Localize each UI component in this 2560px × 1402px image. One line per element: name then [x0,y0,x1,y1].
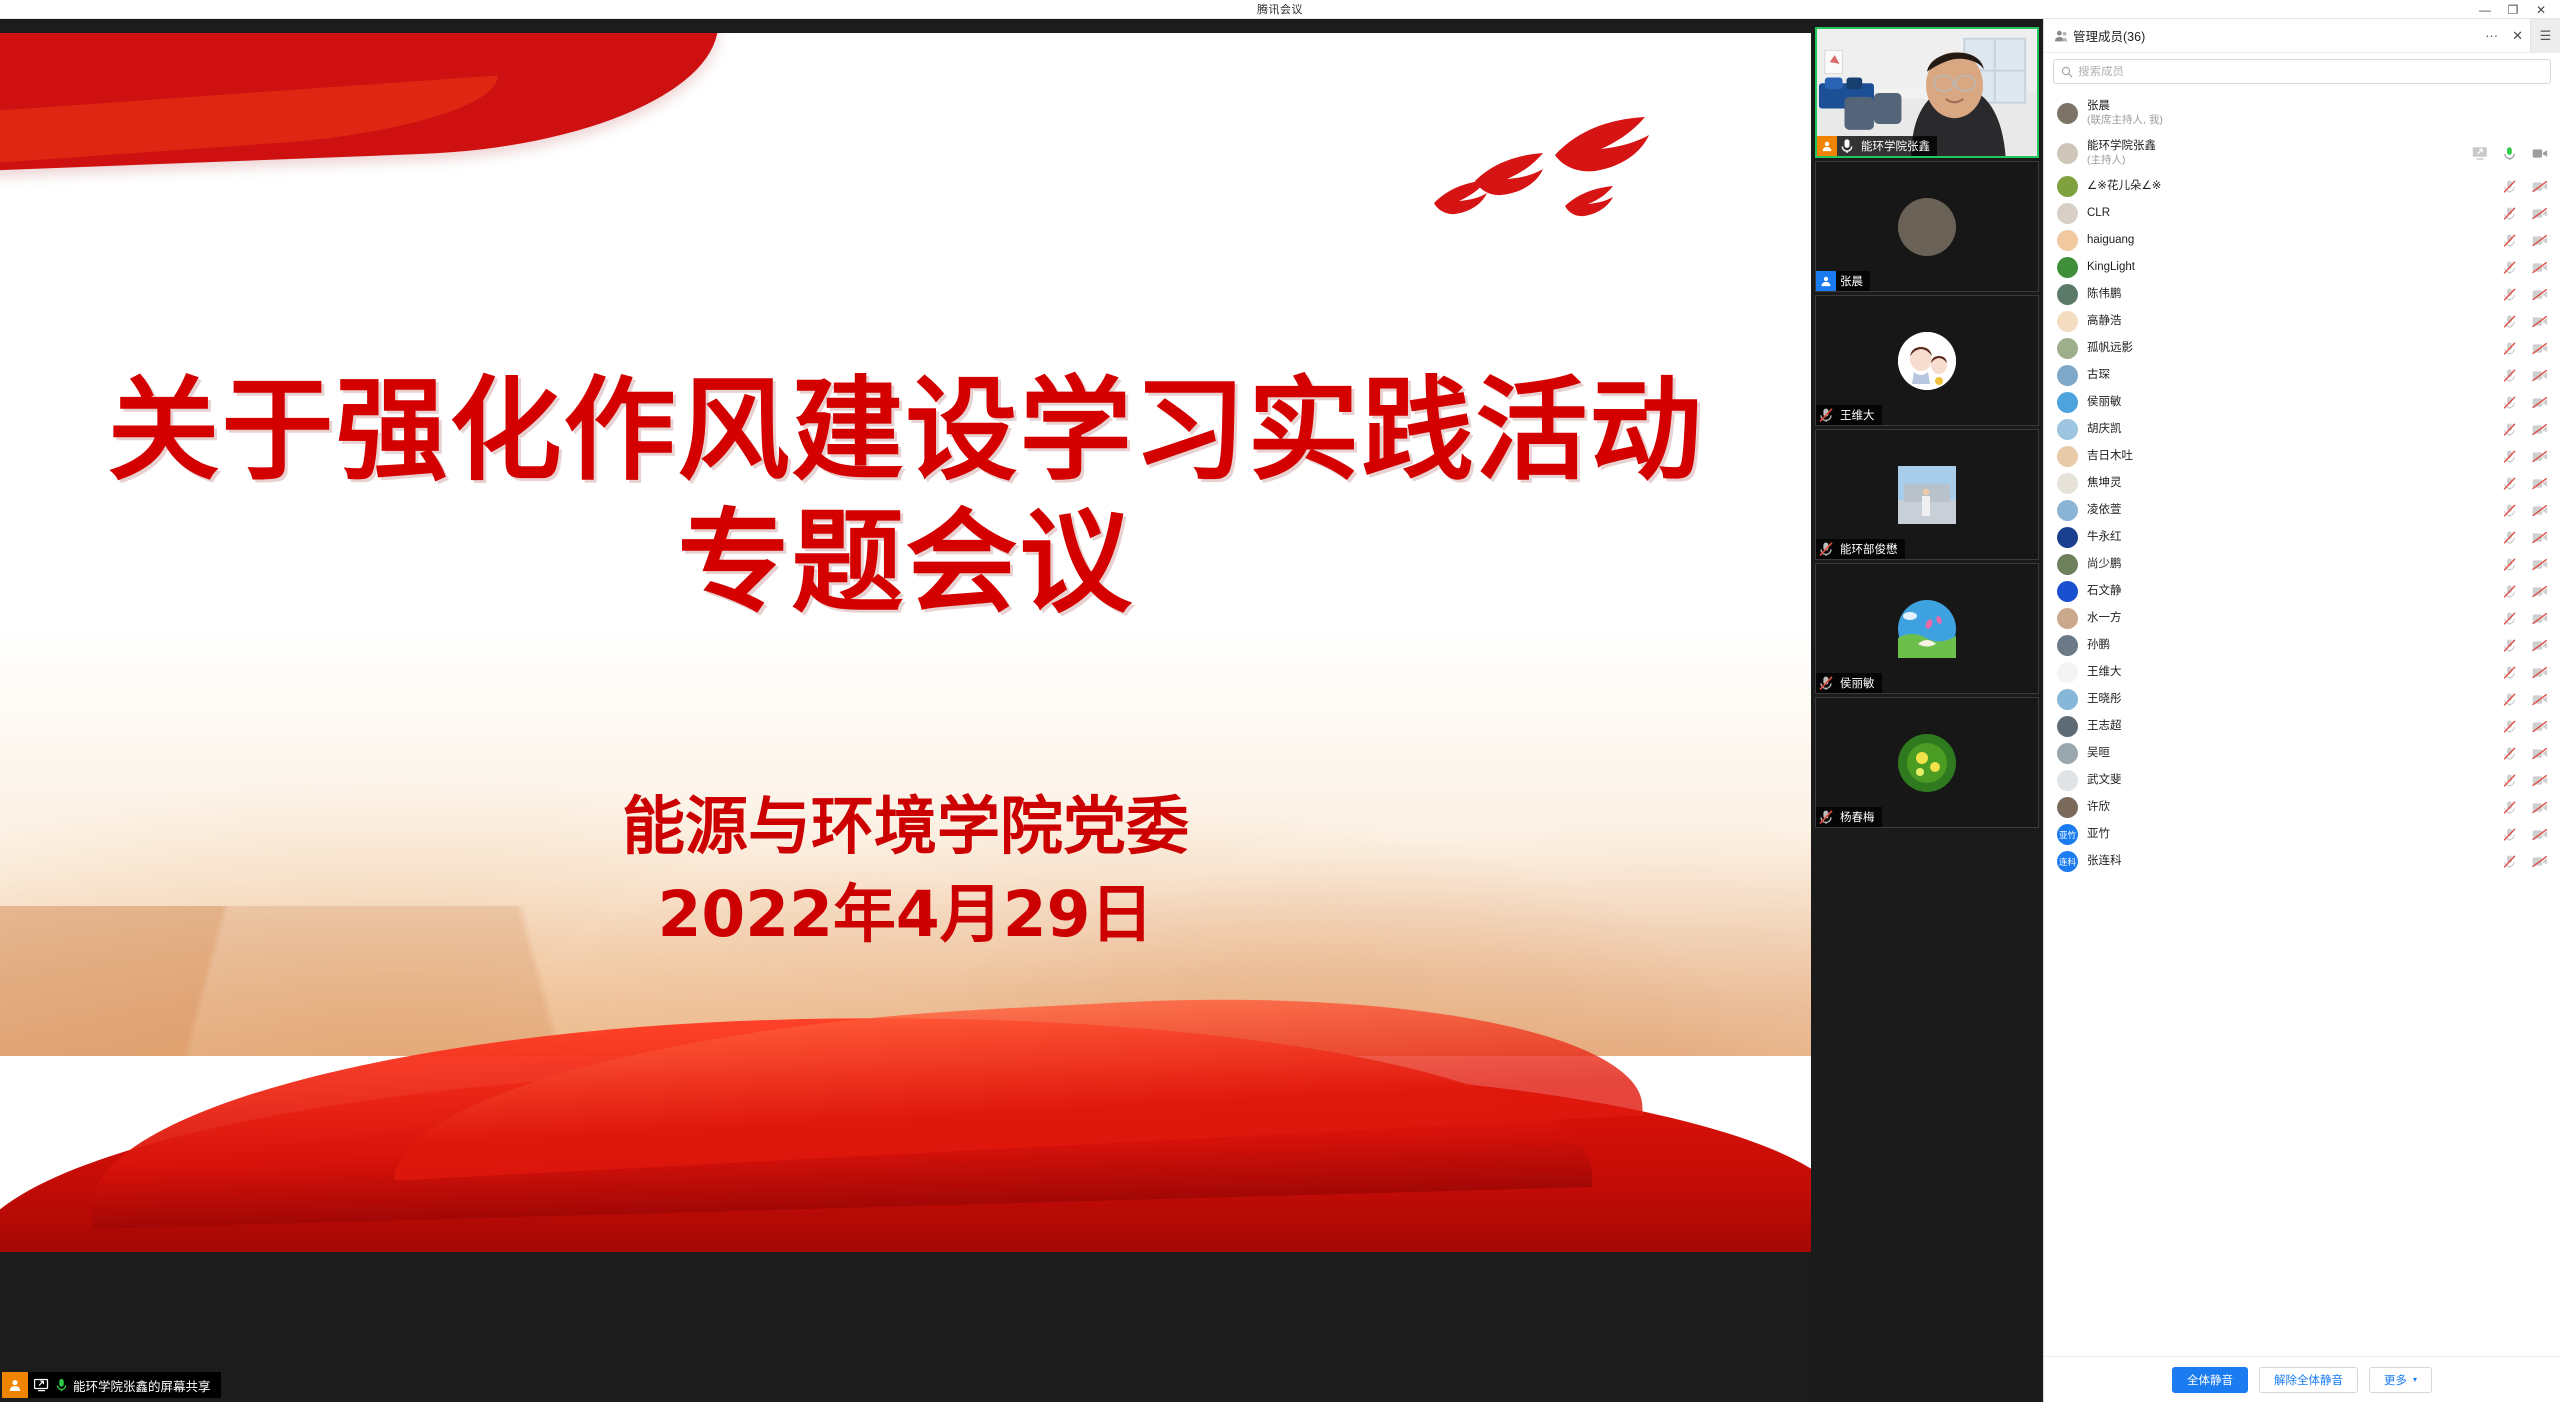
microphone-muted-icon[interactable] [2501,664,2518,681]
participant-info: 王晓彤 [2087,692,2122,706]
microphone-muted-icon[interactable] [2501,232,2518,249]
participant-row[interactable]: 古琛 [2044,362,2560,389]
participant-name: 石文静 [2087,584,2122,598]
participant-row[interactable]: 吴晅 [2044,740,2560,767]
participant-name: 武文斐 [2087,773,2122,787]
avatar [1898,198,1956,256]
participant-info: 张晨(联席主持人, 我) [2087,99,2163,127]
microphone-muted-icon [1816,673,1836,693]
participant-info: 古琛 [2087,368,2110,382]
avatar [2057,635,2078,656]
microphone-muted-icon [1816,405,1836,425]
participant-name: 孙鹏 [2087,638,2110,652]
participant-row[interactable]: 吉日木吐 [2044,443,2560,470]
participant-info: 张连科 [2087,854,2122,868]
tile-name: 侯丽敏 [1840,675,1875,691]
participant-status-icons [2501,691,2548,708]
participant-info: 陈伟鹏 [2087,287,2122,301]
tile-label: 张晨 [1816,271,1870,291]
participant-row[interactable]: 亚竹亚竹 [2044,821,2560,848]
tile-label: 能环部俊懋 [1816,539,1905,559]
unmute-all-button[interactable]: 解除全体静音 [2259,1367,2358,1393]
participant-status-icons [2501,637,2548,654]
participant-name: 张连科 [2087,854,2122,868]
tile-name: 能环学院张鑫 [1861,138,1930,154]
tile-label: 杨春梅 [1816,807,1882,827]
avatar: 亚竹 [2057,824,2078,845]
microphone-muted-icon[interactable] [2501,853,2518,870]
camera-off-icon[interactable] [2531,799,2548,816]
participant-row[interactable]: 胡庆凯 [2044,416,2560,443]
participant-row[interactable]: 陈伟鹏 [2044,281,2560,308]
dove-icon [1431,179,1497,217]
participant-name: 许欣 [2087,800,2110,814]
participant-info: ∠※花儿朵∠※ [2087,179,2161,193]
camera-off-icon[interactable] [2531,205,2548,222]
camera-off-icon[interactable] [2531,448,2548,465]
participant-row[interactable]: 焦坤灵 [2044,470,2560,497]
microphone-muted-icon[interactable] [2501,529,2518,546]
participant-status-icons [2501,367,2548,384]
participant-status-icons [2501,556,2548,573]
camera-off-icon[interactable] [2531,853,2548,870]
microphone-muted-icon[interactable] [2501,286,2518,303]
participant-name: 吴晅 [2087,746,2110,760]
participant-row[interactable]: 尚少鹏 [2044,551,2560,578]
participant-row[interactable]: 水一方 [2044,605,2560,632]
avatar [1898,332,1956,390]
participant-status-icons [2501,826,2548,843]
tile-name: 杨春梅 [1840,809,1875,825]
participant-role: (联席主持人, 我) [2087,114,2163,127]
search-area [2044,53,2560,91]
peace-doves-decoration [1431,115,1701,245]
slide-date: 2022年4月29日 [0,873,1811,956]
participant-status-icons [2501,799,2548,816]
more-button[interactable]: 更多 ▾ [2369,1367,2432,1393]
participant-info: KingLight [2087,260,2135,274]
participant-row[interactable]: haiguang [2044,227,2560,254]
avatar: 连科 [2057,851,2078,872]
microphone-muted-icon[interactable] [2501,583,2518,600]
mute-all-button[interactable]: 全体静音 [2172,1367,2248,1393]
camera-off-icon[interactable] [2531,529,2548,546]
search-box[interactable] [2053,59,2551,84]
participant-list[interactable]: 张晨(联席主持人, 我)能环学院张鑫(主持人)∠※花儿朵∠※CLRhaiguan… [2044,91,2560,1356]
participant-status-icons [2501,610,2548,627]
participant-info: 凌依萱 [2087,503,2122,517]
meeting-window: 腾讯会议 — ❐ ✕ [0,0,2560,1402]
camera-off-icon[interactable] [2531,745,2548,762]
dove-icon [1563,185,1621,219]
search-icon [2061,66,2073,78]
participant-name: 陈伟鹏 [2087,287,2122,301]
more-options-icon[interactable]: ··· [2478,28,2505,43]
camera-off-icon[interactable] [2531,259,2548,276]
microphone-muted-icon[interactable] [2501,610,2518,627]
tile-label: 侯丽敏 [1816,673,1882,693]
participant-row[interactable]: 凌依萱 [2044,497,2560,524]
participant-role: (主持人) [2087,154,2156,167]
video-tile[interactable]: 能环学院张鑫 [1815,27,2039,158]
participant-name: 王志超 [2087,719,2122,733]
avatar [2057,473,2078,494]
participant-info: 武文斐 [2087,773,2122,787]
microphone-on-icon[interactable] [2501,145,2518,162]
avatar [2057,176,2078,197]
participant-name: 王晓彤 [2087,692,2122,706]
microphone-muted-icon[interactable] [2501,367,2518,384]
participant-name: 古琛 [2087,368,2110,382]
participant-status-icons [2501,286,2548,303]
participant-status-icons [2501,853,2548,870]
avatar [2057,743,2078,764]
participant-status-icons [2501,772,2548,789]
camera-off-icon[interactable] [2531,637,2548,654]
microphone-muted-icon[interactable] [2501,718,2518,735]
camera-off-icon[interactable] [2531,394,2548,411]
participant-status-icons [2501,745,2548,762]
people-icon [2054,29,2068,43]
participant-info: 尚少鹏 [2087,557,2122,571]
slide-title-line1: 关于强化作风建设学习实践活动 [0,365,1811,497]
participant-info: 亚竹 [2087,827,2110,841]
microphone-muted-icon[interactable] [2501,475,2518,492]
window-controls: — ❐ ✕ [2478,0,2556,19]
participant-name: ∠※花儿朵∠※ [2087,179,2161,193]
avatar [2057,770,2078,791]
avatar [1898,600,1956,658]
participant-name: KingLight [2087,260,2135,274]
avatar [2057,284,2078,305]
presentation-slide: 关于强化作风建设学习实践活动 专题会议 能源与环境学院党委 2022年4月29日 [0,33,1811,1252]
participants-panel: 管理成员(36) ··· ✕ ☰ 张晨(联席主持人, 我)能环学院张鑫(主持人)… [2043,19,2560,1402]
participant-name: 张晨 [2087,99,2163,113]
panel-close-icon[interactable]: ✕ [2505,28,2530,44]
participant-name: 能环学院张鑫 [2087,139,2156,153]
microphone-muted-icon[interactable] [2501,205,2518,222]
participant-name: 高静浩 [2087,314,2122,328]
participant-name: 胡庆凯 [2087,422,2122,436]
participant-name: 吉日木吐 [2087,449,2133,463]
host-badge-icon [2,1372,28,1398]
self-badge-icon [1816,271,1836,291]
panel-title: 管理成员(36) [2073,26,2145,45]
participant-status-icons [2471,145,2548,162]
tile-name: 能环部俊懋 [1840,541,1898,557]
participant-status-icons [2501,313,2548,330]
avatar [1898,466,1956,524]
participant-row[interactable]: 高静浩 [2044,308,2560,335]
participant-row[interactable]: 牛永红 [2044,524,2560,551]
camera-off-icon[interactable] [2531,610,2548,627]
microphone-muted-icon[interactable] [2501,772,2518,789]
camera-off-icon[interactable] [2531,556,2548,573]
video-filmstrip[interactable]: 能环学院张鑫 张晨 王维大 [1811,19,2043,1402]
participant-status-icons [2501,259,2548,276]
camera-off-icon[interactable] [2531,664,2548,681]
participant-info: 孙鹏 [2087,638,2110,652]
microphone-muted-icon[interactable] [2501,637,2518,654]
microphone-muted-icon[interactable] [2501,178,2518,195]
participant-status-icons [2501,448,2548,465]
tile-label: 能环学院张鑫 [1817,136,1937,156]
participant-status-icons [2501,205,2548,222]
participant-info: 焦坤灵 [2087,476,2122,490]
microphone-muted-icon[interactable] [2501,502,2518,519]
avatar [2057,203,2078,224]
more-button-label: 更多 [2384,1372,2407,1388]
participant-info: 王志超 [2087,719,2122,733]
search-input[interactable] [2078,66,2543,78]
avatar [2057,500,2078,521]
shared-screen-stage: 关于强化作风建设学习实践活动 专题会议 能源与环境学院党委 2022年4月29日… [0,19,1811,1402]
participant-status-icons [2501,394,2548,411]
video-tile[interactable]: 张晨 [1815,161,2039,292]
microphone-muted-icon[interactable] [2501,259,2518,276]
avatar [2057,103,2078,124]
participant-info: 石文静 [2087,584,2122,598]
participant-status-icons [2501,583,2548,600]
participant-info: 胡庆凯 [2087,422,2122,436]
camera-off-icon[interactable] [2531,691,2548,708]
participant-row[interactable]: CLR [2044,200,2560,227]
participant-info: 王维大 [2087,665,2122,679]
microphone-muted-icon[interactable] [2501,799,2518,816]
microphone-muted-icon[interactable] [2501,556,2518,573]
avatar [2057,527,2078,548]
participant-name: 侯丽敏 [2087,395,2122,409]
participant-row[interactable]: 王维大 [2044,659,2560,686]
tile-name: 张晨 [1840,273,1863,289]
participant-name: 亚竹 [2087,827,2110,841]
avatar [2057,689,2078,710]
tile-label: 王维大 [1816,405,1882,425]
slide-subtitle: 能源与环境学院党委 [0,785,1811,868]
video-tile[interactable]: 王维大 [1815,295,2039,426]
participant-info: 能环学院张鑫(主持人) [2087,139,2156,167]
participant-status-icons [2501,502,2548,519]
participant-row[interactable]: 孤帆远影 [2044,335,2560,362]
participant-row[interactable]: KingLight [2044,254,2560,281]
microphone-muted-icon[interactable] [2501,745,2518,762]
avatar [2057,311,2078,332]
microphone-muted-icon[interactable] [2501,448,2518,465]
close-icon[interactable]: ✕ [2534,4,2548,16]
participant-info: 水一方 [2087,611,2122,625]
avatar [2057,716,2078,737]
avatar [2057,581,2078,602]
microphone-on-icon [1837,136,1857,156]
participant-status-icons [2501,421,2548,438]
avatar [2057,338,2078,359]
camera-off-icon[interactable] [2531,502,2548,519]
camera-off-icon[interactable] [2531,583,2548,600]
panel-footer: 全体静音 解除全体静音 更多 ▾ [2044,1356,2560,1402]
camera-off-icon[interactable] [2531,178,2548,195]
screen-share-text: 能环学院张鑫的屏幕共享 [73,1376,211,1395]
participant-info: CLR [2087,206,2110,220]
participant-info: 牛永红 [2087,530,2122,544]
screen-share-banner: 能环学院张鑫的屏幕共享 [2,1372,221,1398]
slide-title: 关于强化作风建设学习实践活动 专题会议 [0,365,1811,629]
panel-header: 管理成员(36) ··· ✕ ☰ [2044,19,2560,53]
avatar [2057,392,2078,413]
participant-row[interactable]: 王晓彤 [2044,686,2560,713]
participant-row[interactable]: 连科张连科 [2044,848,2560,875]
avatar [2057,257,2078,278]
red-silk-ribbon-bottom [0,998,1811,1252]
camera-off-icon[interactable] [2531,313,2548,330]
participant-row[interactable]: 孙鹏 [2044,632,2560,659]
participant-row[interactable]: 王志超 [2044,713,2560,740]
camera-off-icon[interactable] [2531,475,2548,492]
participant-status-icons [2501,475,2548,492]
video-tile[interactable]: 能环部俊懋 [1815,429,2039,560]
screen-share-icon [2471,145,2488,162]
camera-off-icon[interactable] [2531,772,2548,789]
avatar [2057,446,2078,467]
microphone-muted-icon [1816,807,1836,827]
participant-name: 焦坤灵 [2087,476,2122,490]
participant-row[interactable]: 石文静 [2044,578,2560,605]
participant-row[interactable]: 张晨(联席主持人, 我) [2044,93,2560,133]
camera-off-icon[interactable] [2531,340,2548,357]
participant-info: 高静浩 [2087,314,2122,328]
microphone-muted-icon[interactable] [2501,826,2518,843]
microphone-muted-icon[interactable] [2501,691,2518,708]
camera-off-icon[interactable] [2531,286,2548,303]
participant-row[interactable]: 侯丽敏 [2044,389,2560,416]
screen-share-icon [34,1378,49,1392]
camera-off-icon[interactable] [2531,367,2548,384]
minimize-icon[interactable]: — [2478,4,2492,16]
host-badge-icon [1817,136,1837,156]
window-title: 腾讯会议 [1257,1,1303,17]
participant-name: 凌依萱 [2087,503,2122,517]
participant-info: 吉日木吐 [2087,449,2133,463]
microphone-icon [55,1378,68,1392]
slide-title-line2: 专题会议 [0,497,1811,629]
participant-status-icons [2501,664,2548,681]
tile-name: 王维大 [1840,407,1875,423]
participant-info: 吴晅 [2087,746,2110,760]
participant-info: 许欣 [2087,800,2110,814]
panel-menu-icon[interactable]: ☰ [2530,19,2560,53]
avatar [2057,419,2078,440]
camera-off-icon[interactable] [2531,826,2548,843]
participant-row[interactable]: 许欣 [2044,794,2560,821]
participant-row[interactable]: 武文斐 [2044,767,2560,794]
participant-name: 牛永红 [2087,530,2122,544]
avatar [2057,230,2078,251]
microphone-muted-icon[interactable] [2501,421,2518,438]
participant-status-icons [2501,232,2548,249]
avatar [1898,734,1956,792]
participant-status-icons [2501,340,2548,357]
microphone-muted-icon[interactable] [2501,313,2518,330]
avatar [2057,662,2078,683]
video-tile[interactable]: 侯丽敏 [1815,563,2039,694]
avatar [2057,554,2078,575]
participant-name: 尚少鹏 [2087,557,2122,571]
participant-status-icons [2501,178,2548,195]
microphone-muted-icon[interactable] [2501,340,2518,357]
stage-letterbox [0,1252,1811,1402]
camera-on-icon[interactable] [2531,145,2548,162]
participant-info: haiguang [2087,233,2134,247]
participant-name: 孤帆远影 [2087,341,2133,355]
avatar [2057,608,2078,629]
camera-off-icon[interactable] [2531,421,2548,438]
video-tile[interactable]: 杨春梅 [1815,697,2039,828]
camera-off-icon[interactable] [2531,718,2548,735]
participant-name: CLR [2087,206,2110,220]
restore-icon[interactable]: ❐ [2506,4,2520,16]
participant-info: 侯丽敏 [2087,395,2122,409]
camera-off-icon[interactable] [2531,232,2548,249]
participant-row[interactable]: ∠※花儿朵∠※ [2044,173,2560,200]
chevron-down-icon: ▾ [2413,1375,2417,1384]
avatar [2057,143,2078,164]
participant-status-icons [2501,718,2548,735]
window-titlebar: 腾讯会议 — ❐ ✕ [0,0,2560,19]
dove-icon [1549,115,1669,177]
microphone-muted-icon[interactable] [2501,394,2518,411]
participant-row[interactable]: 能环学院张鑫(主持人) [2044,133,2560,173]
avatar [2057,797,2078,818]
microphone-muted-icon [1816,539,1836,559]
participant-info: 孤帆远影 [2087,341,2133,355]
participant-name: haiguang [2087,233,2134,247]
participant-status-icons [2501,529,2548,546]
participant-name: 水一方 [2087,611,2122,625]
avatar [2057,365,2078,386]
participant-name: 王维大 [2087,665,2122,679]
